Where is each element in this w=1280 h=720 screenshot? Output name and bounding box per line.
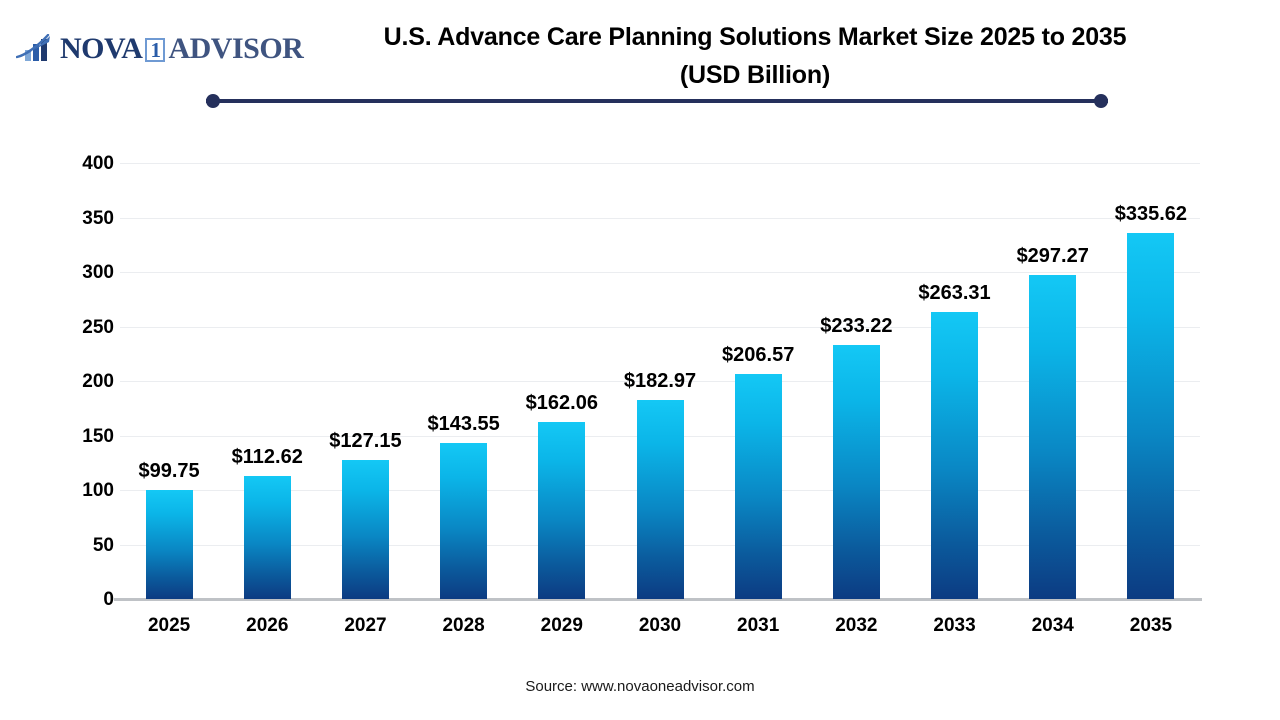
bar-value-label: $233.22 — [791, 316, 921, 336]
bar-2026[interactable] — [244, 476, 291, 599]
bar-value-label: $335.62 — [1086, 204, 1216, 224]
bar-chart-swoosh-icon — [16, 34, 58, 64]
gridline — [120, 272, 1200, 273]
bar-value-label: $206.57 — [693, 345, 823, 365]
bar-2029[interactable] — [538, 422, 585, 599]
bar-value-label: $297.27 — [988, 246, 1118, 266]
bar-value-label: $143.55 — [399, 414, 529, 434]
bar-2032[interactable] — [833, 345, 880, 599]
bar-2033[interactable] — [931, 312, 978, 599]
bar-2035[interactable] — [1127, 233, 1174, 599]
title-divider — [206, 94, 1108, 108]
y-axis-tick-label: 350 — [54, 209, 114, 228]
y-axis-tick-label: 200 — [54, 372, 114, 391]
bar-2028[interactable] — [440, 443, 487, 599]
bar-2034[interactable] — [1029, 275, 1076, 599]
bar-2027[interactable] — [342, 460, 389, 599]
gridline — [120, 218, 1200, 219]
y-axis-tick-label: 250 — [54, 318, 114, 337]
brand-name-advisor: ADVISOR — [168, 32, 303, 66]
bar-value-label: $263.31 — [890, 283, 1020, 303]
y-axis-tick-label: 50 — [54, 536, 114, 555]
bar-2031[interactable] — [735, 374, 782, 599]
y-axis-tick-label: 150 — [54, 427, 114, 446]
bar-value-label: $162.06 — [497, 393, 627, 413]
divider-dot-left — [206, 94, 220, 108]
y-axis-tick-label: 300 — [54, 263, 114, 282]
divider-dot-right — [1094, 94, 1108, 108]
chart-title-line-2: (USD Billion) — [290, 56, 1220, 94]
chart-page: NOVA1ADVISOR U.S. Advance Care Planning … — [0, 0, 1280, 720]
source-note: Source: www.novaoneadvisor.com — [0, 678, 1280, 695]
brand-name-nova: NOVA — [60, 32, 142, 66]
y-axis-tick-label: 100 — [54, 481, 114, 500]
divider-line — [206, 99, 1108, 103]
chart-title-line-1: U.S. Advance Care Planning Solutions Mar… — [290, 18, 1220, 56]
brand-badge-one: 1 — [145, 38, 165, 62]
gridline — [120, 163, 1200, 164]
bar-2030[interactable] — [637, 400, 684, 599]
y-axis-tick-label: 0 — [54, 590, 114, 609]
brand-wordmark: NOVA1ADVISOR — [60, 32, 303, 66]
x-axis-tick-label: 2035 — [1086, 616, 1216, 635]
bar-value-label: $127.15 — [300, 431, 430, 451]
brand-logo[interactable]: NOVA1ADVISOR — [16, 28, 303, 70]
bar-value-label: $182.97 — [595, 371, 725, 391]
bar-2025[interactable] — [146, 490, 193, 599]
chart-title: U.S. Advance Care Planning Solutions Mar… — [290, 18, 1220, 94]
y-axis-tick-label: 400 — [54, 154, 114, 173]
